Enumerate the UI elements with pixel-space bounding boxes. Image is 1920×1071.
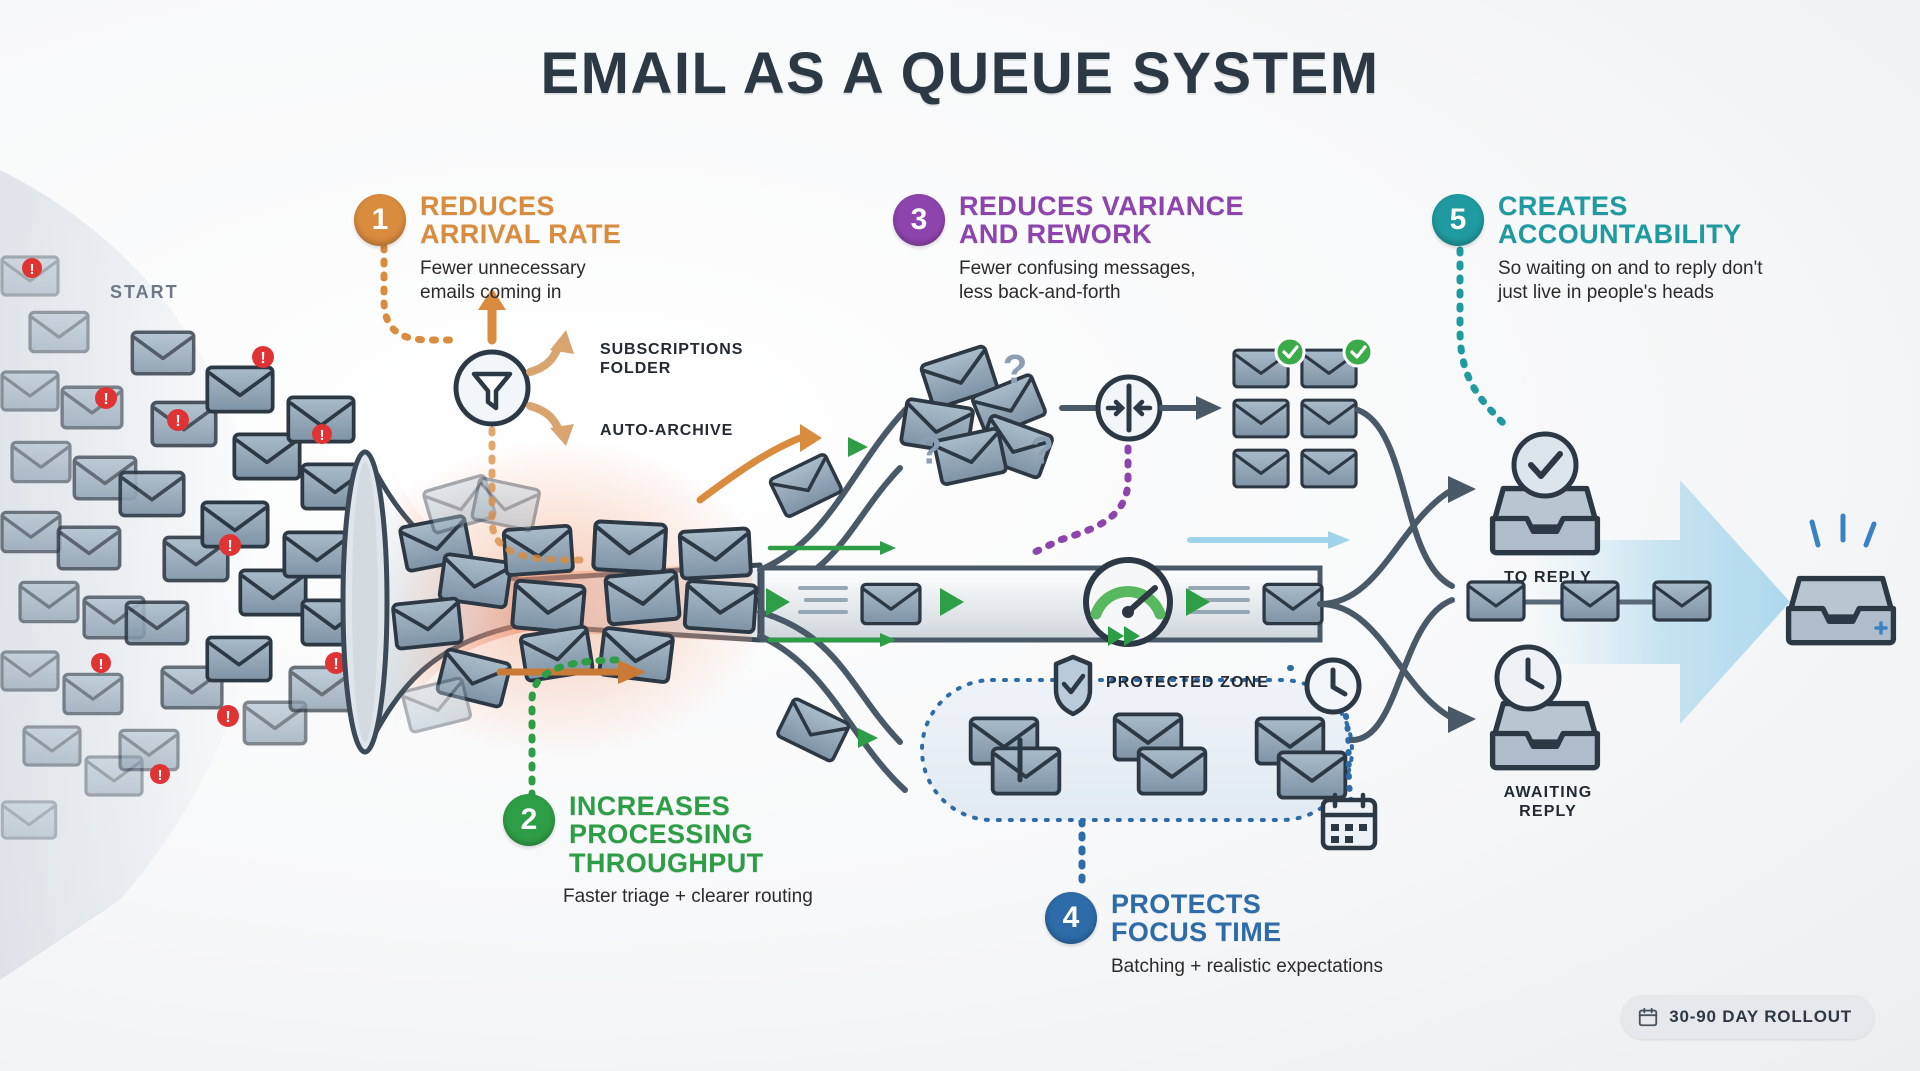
- step-3-subtitle: Fewer confusing messages, less back-and-…: [959, 257, 1244, 306]
- infographic-canvas: ?: [0, 0, 1920, 1071]
- step-5-subtitle: So waiting on and to reply don't just li…: [1498, 257, 1763, 306]
- step-1-number: 1: [354, 194, 406, 246]
- rollout-label: 30-90 DAY ROLLOUT: [1669, 1007, 1852, 1027]
- to-reply-inbox: [1493, 434, 1598, 553]
- svg-text:!: !: [227, 538, 232, 555]
- step-2-title: INCREASES PROCESSING THROUGHPUT: [569, 792, 764, 877]
- svg-text:!: !: [158, 767, 163, 784]
- rollout-badge[interactable]: 30-90 DAY ROLLOUT: [1621, 995, 1874, 1039]
- step-1-subtitle: Fewer unnecessary emails coming in: [420, 257, 621, 306]
- subscriptions-folder-label: SUBSCRIPTIONS FOLDER: [600, 340, 743, 378]
- svg-text:!: !: [30, 261, 35, 278]
- step-3: 3 REDUCES VARIANCE AND REWORK Fewer conf…: [893, 192, 1244, 306]
- step-4-title: PROTECTS FOCUS TIME: [1111, 890, 1282, 947]
- svg-text:!: !: [103, 391, 108, 408]
- step-2-subtitle: Faster triage + clearer routing: [503, 885, 813, 910]
- calendar-icon: [1637, 1006, 1659, 1028]
- shield-check-icon: [1056, 657, 1090, 714]
- auto-archive-label: AUTO-ARCHIVE: [600, 421, 733, 440]
- svg-text:!: !: [260, 350, 265, 367]
- infographic-artwork: ?: [0, 0, 1920, 1071]
- svg-text:!: !: [175, 413, 180, 430]
- final-lane-envelopes: [1468, 582, 1710, 620]
- svg-text:!: !: [333, 656, 338, 673]
- clock-icon: [1307, 660, 1359, 712]
- awaiting-reply-inbox: [1493, 647, 1598, 768]
- step-5: 5 CREATES ACCOUNTABILITY So waiting on a…: [1432, 192, 1763, 306]
- protected-zone-label: PROTECTED ZONE: [1106, 673, 1269, 692]
- filter-icon-group: [456, 288, 574, 446]
- step-4-number: 4: [1045, 892, 1097, 944]
- step-3-title: REDUCES VARIANCE AND REWORK: [959, 192, 1244, 249]
- step-5-title: CREATES ACCOUNTABILITY: [1498, 192, 1763, 249]
- step-4: 4 PROTECTS FOCUS TIME Batching + realist…: [1045, 890, 1383, 979]
- step-3-number: 3: [893, 194, 945, 246]
- step-4-subtitle: Batching + realistic expectations: [1045, 955, 1383, 980]
- blue-flow-arrow: [1190, 531, 1350, 549]
- awaiting-reply-label: AWAITING REPLY: [1473, 783, 1623, 821]
- to-reply-label: TO REPLY: [1473, 568, 1623, 587]
- svg-text:!: !: [225, 709, 230, 726]
- calendar-icon: [1323, 795, 1375, 848]
- final-inbox: [1789, 516, 1894, 643]
- svg-text:!: !: [320, 427, 325, 444]
- step-2-number: 2: [503, 794, 555, 846]
- step-1: 1 REDUCES ARRIVAL RATE Fewer unnecessary…: [354, 192, 621, 306]
- start-label: START: [110, 282, 179, 304]
- step-2: 2 INCREASES PROCESSING THROUGHPUT Faster…: [503, 792, 813, 910]
- step-5-number: 5: [1432, 194, 1484, 246]
- page-title: EMAIL AS A QUEUE SYSTEM: [0, 40, 1920, 107]
- speedometer-group: [1086, 560, 1170, 646]
- tidy-grid: [1234, 338, 1372, 487]
- step-1-title: REDUCES ARRIVAL RATE: [420, 192, 621, 249]
- variance-cluster: [901, 338, 1372, 487]
- svg-text:!: !: [99, 656, 104, 673]
